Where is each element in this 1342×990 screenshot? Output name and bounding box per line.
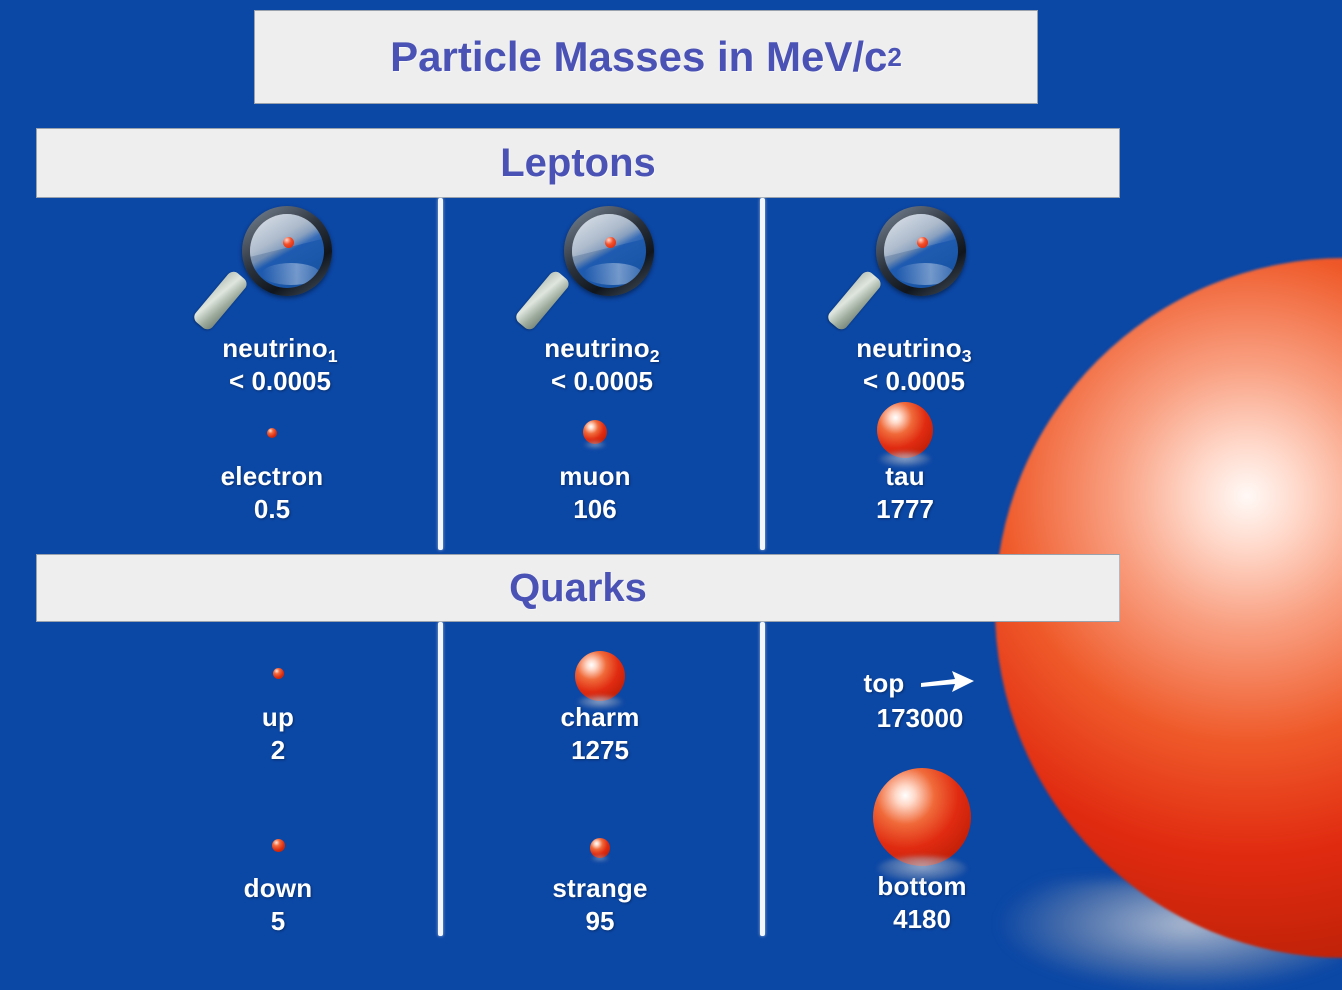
magnifier-ring-icon <box>876 206 966 296</box>
particle-dot-icon <box>283 237 294 248</box>
page-title: Particle Masses in MeV/c2 <box>254 10 1038 104</box>
magnifier-handle-icon <box>825 269 883 332</box>
particle-name: electron <box>221 462 324 490</box>
particle-mass: 95 <box>586 905 615 938</box>
particle-mass: 1275 <box>571 734 629 767</box>
particle-name-text: neutrino <box>544 333 650 363</box>
particle-name-subscript: 3 <box>962 346 972 366</box>
particle-name-subscript: 2 <box>650 346 660 366</box>
divider-leptons-col1 <box>438 198 443 550</box>
particle-mass: 0.5 <box>254 493 290 526</box>
magnifier-glass-icon <box>884 214 958 288</box>
particle-mass: 106 <box>573 493 616 526</box>
particle-name-subscript: 1 <box>328 346 338 366</box>
particle-mass: 1777 <box>876 493 934 526</box>
particle-name: top <box>863 669 904 697</box>
magnifier-glass-icon <box>250 214 324 288</box>
charm-quark-sphere-icon <box>575 645 625 703</box>
particle-mass: 2 <box>271 734 285 767</box>
particle-cell-tau[interactable]: tau 1777 <box>785 400 1025 526</box>
up-quark-sphere-icon <box>273 645 284 703</box>
particle-mass: 173000 <box>800 702 1040 735</box>
particle-name-text: neutrino <box>222 333 328 363</box>
particle-name: down <box>244 874 313 902</box>
particle-name: neutrino1 <box>222 334 338 362</box>
particle-cell-down[interactable]: down 5 <box>158 818 398 938</box>
particle-cell-charm[interactable]: charm 1275 <box>480 645 720 767</box>
particle-name: neutrino2 <box>544 334 660 362</box>
particle-dot-icon <box>605 237 616 248</box>
bottom-quark-sphere-icon <box>873 760 971 872</box>
particle-cell-up[interactable]: up 2 <box>158 645 398 767</box>
magnifier-ring-icon <box>564 206 654 296</box>
arrow-right-icon <box>919 668 977 699</box>
section-header-quarks: Quarks <box>36 554 1120 622</box>
magnifier-icon <box>546 202 658 334</box>
particle-name: neutrino3 <box>856 334 972 362</box>
particle-cell-strange[interactable]: strange 95 <box>480 818 720 938</box>
divider-quarks-col1 <box>438 622 443 936</box>
particle-cell-bottom[interactable]: bottom 4180 <box>802 760 1042 936</box>
magnifier-icon <box>858 202 970 334</box>
particle-cell-neutrino2[interactable]: neutrino2 < 0.0005 <box>482 202 722 398</box>
section-header-quarks-label: Quarks <box>509 566 647 611</box>
particle-mass: 4180 <box>893 903 951 936</box>
infographic-canvas: Particle Masses in MeV/c2 Leptons Quarks… <box>0 0 1342 989</box>
particle-cell-top[interactable]: top 173000 <box>800 668 1040 735</box>
page-title-superscript: 2 <box>887 42 901 73</box>
divider-quarks-col2 <box>760 622 765 936</box>
particle-mass: < 0.0005 <box>863 365 965 398</box>
particle-mass: < 0.0005 <box>551 365 653 398</box>
particle-cell-neutrino1[interactable]: neutrino1 < 0.0005 <box>160 202 400 398</box>
particle-mass: 5 <box>271 905 285 938</box>
particle-name: up <box>262 703 294 731</box>
particle-cell-muon[interactable]: muon 106 <box>475 400 715 526</box>
tau-sphere-icon <box>877 400 933 462</box>
particle-name-text: neutrino <box>856 333 962 363</box>
strange-quark-sphere-icon <box>590 818 610 874</box>
section-header-leptons-label: Leptons <box>500 141 656 186</box>
particle-dot-icon <box>917 237 928 248</box>
divider-leptons-col2 <box>760 198 765 550</box>
electron-sphere-icon <box>267 400 277 462</box>
magnifier-glass-icon <box>572 214 646 288</box>
muon-sphere-icon <box>583 400 607 462</box>
particle-mass: < 0.0005 <box>229 365 331 398</box>
particle-name: muon <box>559 462 631 490</box>
magnifier-icon <box>224 202 336 334</box>
particle-cell-neutrino3[interactable]: neutrino3 < 0.0005 <box>794 202 1034 398</box>
magnifier-handle-icon <box>191 269 249 332</box>
section-header-leptons: Leptons <box>36 128 1120 198</box>
down-quark-sphere-icon <box>272 818 285 874</box>
magnifier-handle-icon <box>513 269 571 332</box>
particle-cell-electron[interactable]: electron 0.5 <box>152 400 392 526</box>
particle-name: strange <box>552 874 647 902</box>
magnifier-ring-icon <box>242 206 332 296</box>
page-title-text: Particle Masses in MeV/c <box>390 33 887 81</box>
